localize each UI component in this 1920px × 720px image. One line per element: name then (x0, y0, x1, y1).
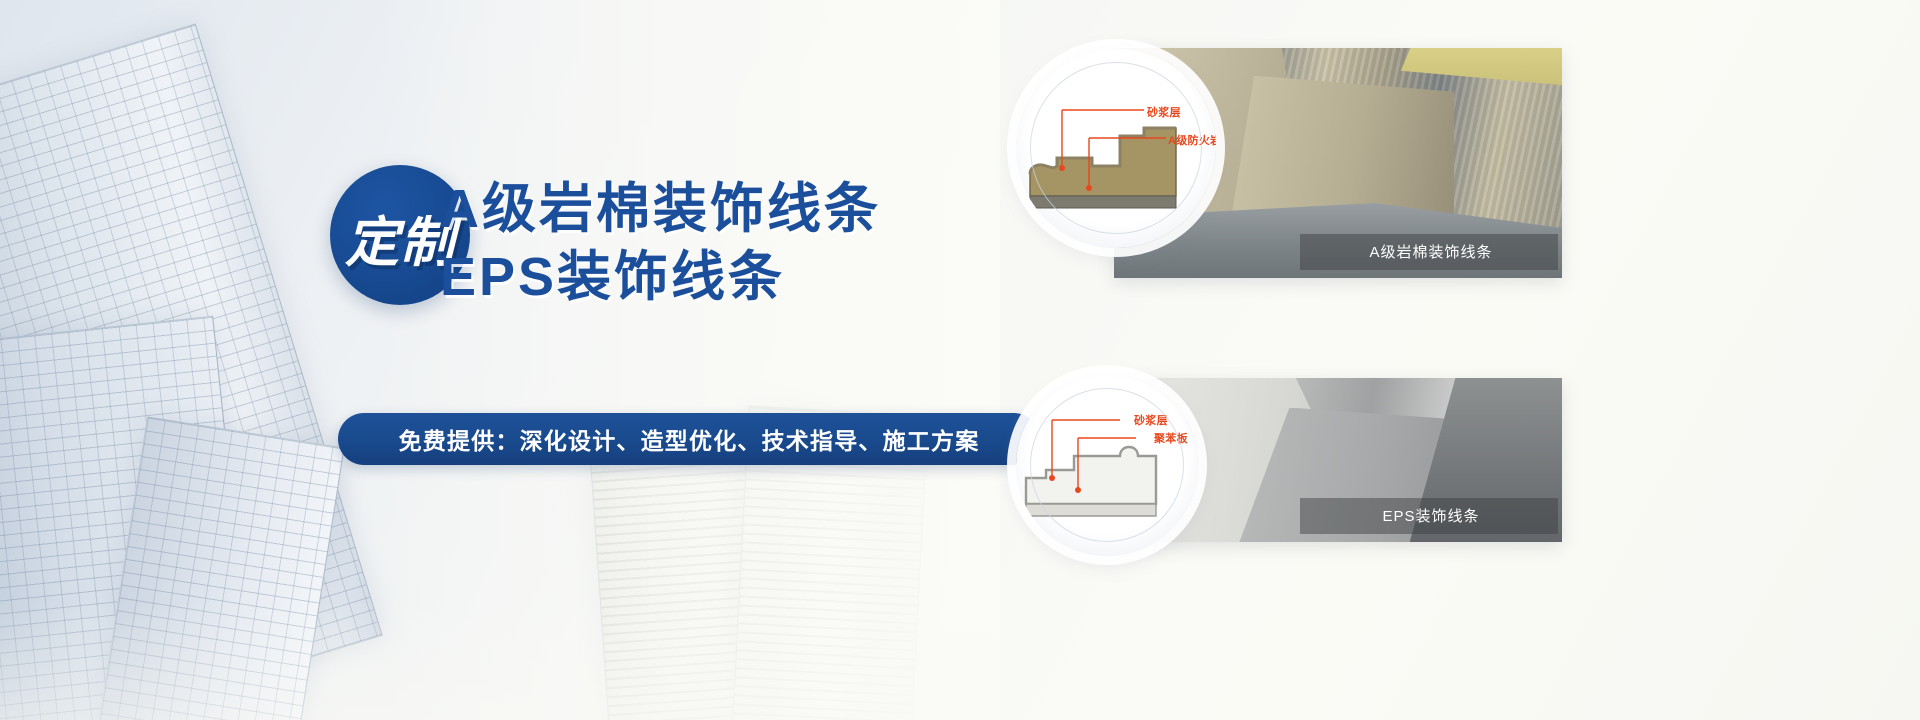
custom-badge-label: 定制 (345, 198, 455, 277)
callout-label-mortar: 砂浆层 (1147, 104, 1181, 120)
headline-line-1: A级岩棉装饰线条 (440, 175, 881, 243)
product-caption: EPS装饰线条 (1300, 498, 1558, 534)
rockwool-profile-icon (1016, 48, 1216, 248)
eps-profile-icon (1016, 374, 1198, 556)
services-ribbon-text: 免费提供：深化设计、造型优化、技术指导、施工方案 (399, 422, 980, 456)
product-card-eps: EPS装饰线条 砂浆层 聚苯板 (1016, 378, 1562, 542)
product-caption: A级岩棉装饰线条 (1300, 234, 1558, 270)
headline: A级岩棉装饰线条 EPS装饰线条 (440, 175, 881, 311)
callout-label-rockwool: A级防火岩棉层 (1168, 132, 1216, 148)
product-card-rockwool: A级岩棉装饰线条 砂浆层 A级防火岩棉层 (1016, 48, 1562, 278)
headline-line-2: EPS装饰线条 (440, 243, 881, 311)
services-ribbon: 免费提供：深化设计、造型优化、技术指导、施工方案 (338, 413, 1040, 465)
callout-label-eps-board: 聚苯板 (1154, 430, 1188, 446)
cross-section-inset-eps: 砂浆层 聚苯板 (1016, 374, 1198, 556)
promo-banner: 定制 A级岩棉装饰线条 EPS装饰线条 免费提供：深化设计、造型优化、技术指导、… (0, 0, 1920, 720)
cross-section-inset-rockwool: 砂浆层 A级防火岩棉层 (1016, 48, 1216, 248)
copy-block: 定制 A级岩棉装饰线条 EPS装饰线条 免费提供：深化设计、造型优化、技术指导、… (0, 0, 1100, 720)
callout-label-mortar: 砂浆层 (1134, 412, 1168, 428)
